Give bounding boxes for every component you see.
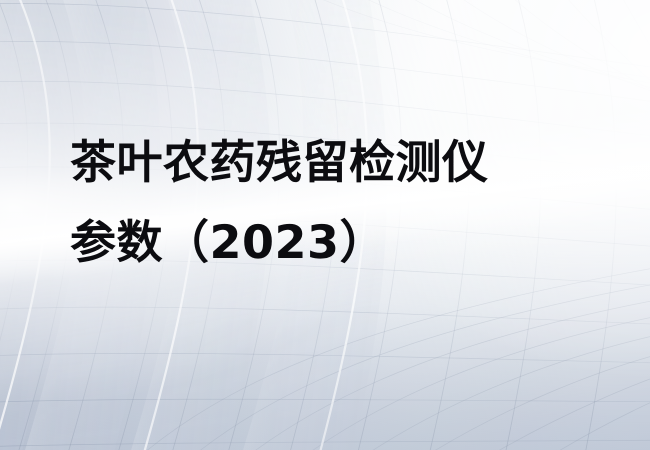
page-title: 茶叶农药残留检测仪 参数（2023） <box>70 122 610 282</box>
title-line-2: 参数（2023） <box>70 202 610 282</box>
title-line-1: 茶叶农药残留检测仪 <box>70 122 610 202</box>
banner-image: 茶叶农药残留检测仪 参数（2023） <box>0 0 650 450</box>
